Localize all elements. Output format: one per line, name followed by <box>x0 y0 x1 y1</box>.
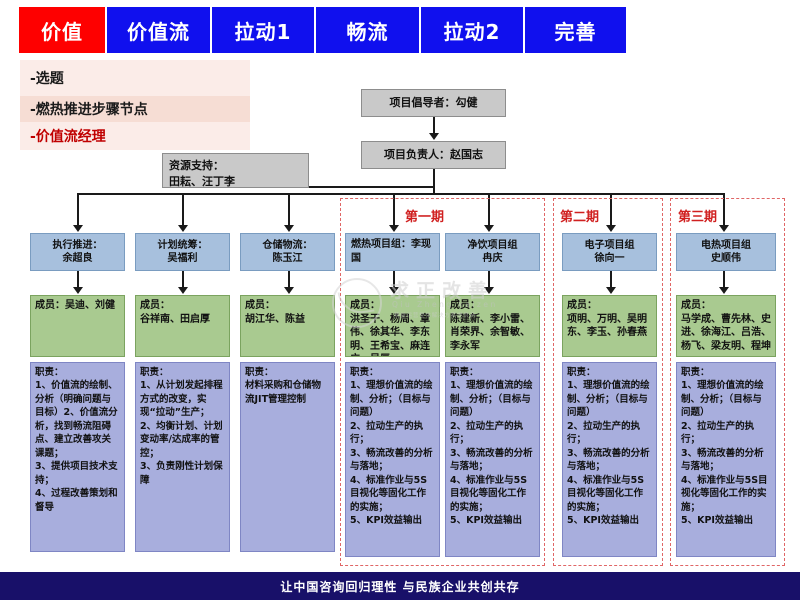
role-box-5: 净饮项目组 冉庆 <box>445 233 540 271</box>
duty-box-4: 职责： 1、理想价值流的绘制、分析；（目标与问题） 2、拉动生产的执行； 3、畅… <box>345 362 440 557</box>
tab-wanshan[interactable]: 完善 <box>524 6 627 54</box>
tab-changliu[interactable]: 畅流 <box>315 6 420 54</box>
arrow-col-1 <box>73 225 83 232</box>
arrow-sponsor-owner <box>429 133 439 140</box>
owner-box: 项目负责人：赵国志 <box>361 141 506 169</box>
footer-banner: 让中国咨询回归理性 与民族企业共创共存 <box>0 572 800 600</box>
arrow-role-member-4 <box>389 287 399 294</box>
connector-sponsor-owner <box>433 117 435 134</box>
phase-label-3: 第三期 <box>678 206 717 225</box>
arrow-role-member-1 <box>73 287 83 294</box>
duty-box-1: 职责： 1、价值流的绘制、分析（明确问题与目标）2、价值流分析，找到畅流阻碍点、… <box>30 362 125 552</box>
arrow-role-member-3 <box>284 287 294 294</box>
distribution-bus <box>77 193 723 195</box>
role-box-2: 计划统筹： 吴福利 <box>135 233 230 271</box>
role-box-7: 电热项目组 史顺伟 <box>676 233 776 271</box>
role-box-6: 电子项目组 徐向一 <box>562 233 657 271</box>
drop-col-3 <box>288 193 290 226</box>
role-box-4: 燃热项目组：李现国 <box>345 233 440 271</box>
drop-col-1 <box>77 193 79 226</box>
sponsor-box: 项目倡导者：勾健 <box>361 89 506 117</box>
drop-col-2 <box>182 193 184 226</box>
legend-line-1: -选题 <box>30 68 64 88</box>
role-box-1: 执行推进： 余超良 <box>30 233 125 271</box>
duty-box-7: 职责： 1、理想价值流的绘制、分析；（目标与问题） 2、拉动生产的执行； 3、畅… <box>676 362 776 557</box>
arrow-col-2 <box>178 225 188 232</box>
legend-line-3: -价值流经理 <box>30 126 106 146</box>
phase-label-2: 第二期 <box>560 206 599 225</box>
connector-owner-down <box>433 169 435 193</box>
phase-tabbar: 价值 价值流 拉动1 畅流 拉动2 完善 <box>18 6 627 54</box>
member-box-4: 成员： 洪圣干、杨周、章伟、徐其华、李东明、王希宝、麻连广、吴辰 <box>345 295 440 357</box>
tab-jiazhi[interactable]: 价值 <box>18 6 106 54</box>
duty-box-5: 职责： 1、理想价值流的绘制、分析；（目标与问题） 2、拉动生产的执行； 3、畅… <box>445 362 540 557</box>
member-box-2: 成员： 谷祥南、田启厚 <box>135 295 230 357</box>
duty-box-6: 职责： 1、理想价值流的绘制、分析；（目标与问题） 2、拉动生产的执行； 3、畅… <box>562 362 657 557</box>
member-box-6: 成员： 项明、万明、吴明东、李玉、孙春燕 <box>562 295 657 357</box>
arrow-col-3 <box>284 225 294 232</box>
tab-ladong2[interactable]: 拉动2 <box>420 6 524 54</box>
tab-jiazhiliu[interactable]: 价值流 <box>106 6 211 54</box>
phase-label-1: 第一期 <box>405 206 444 225</box>
duty-box-3: 职责： 材料采购和仓储物流JIT管理控制 <box>240 362 335 552</box>
member-box-3: 成员： 胡江华、陈益 <box>240 295 335 357</box>
legend-line-2: -燃热推进步骤节点 <box>20 96 250 122</box>
duty-box-2: 职责： 1、从计划发起排程方式的改变，实现“拉动”生产； 2、均衡计划、计划变动… <box>135 362 230 552</box>
member-box-7: 成员： 马学成、曹先林、史进、徐海江、吕浩、杨飞、梁友明、程坤 <box>676 295 776 357</box>
resource-support-box: 资源支持： 田耘、汪丁李 <box>162 153 309 188</box>
tab-ladong1[interactable]: 拉动1 <box>211 6 315 54</box>
legend-panel: -选题 -燃热推进步骤节点 -价值流经理 <box>20 60 250 150</box>
arrow-role-member-2 <box>178 287 188 294</box>
slide-canvas: 价值 价值流 拉动1 畅流 拉动2 完善 -选题 -燃热推进步骤节点 -价值流经… <box>0 0 800 600</box>
role-box-3: 仓储物流： 陈玉江 <box>240 233 335 271</box>
connector-resource-bus <box>309 186 434 188</box>
arrow-role-member-7 <box>719 287 729 294</box>
footer-text: 让中国咨询回归理性 与民族企业共创共存 <box>280 578 519 595</box>
member-box-5: 成员： 陈建新、李小雷、肖荣界、余智敏、李永军 <box>445 295 540 357</box>
arrow-role-member-5 <box>484 287 494 294</box>
member-box-1: 成员：吴迪、刘健 <box>30 295 125 357</box>
arrow-role-member-6 <box>606 287 616 294</box>
